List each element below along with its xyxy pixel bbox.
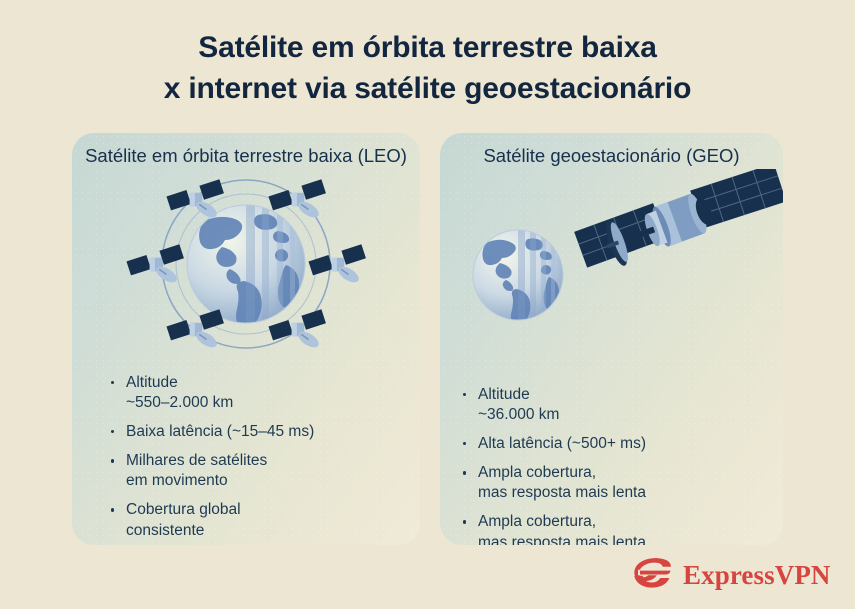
leo-bullet-list: Altitude ~550–2.000 km Baixa latência (~… — [110, 373, 370, 541]
card-geo-heading-line-1: Satélite geoestacionário — [483, 145, 680, 166]
satellite-glyph — [268, 309, 325, 350]
list-item: Alta latência (~500+ ms) — [462, 434, 732, 454]
expressvpn-wordmark: ExpressVPN — [683, 562, 831, 589]
card-geo-heading: Satélite geoestacionário (GEO) — [440, 133, 783, 169]
comparison-cards: Satélite em órbita terrestre baixa (LEO) — [72, 133, 783, 545]
bullet-line-1: Altitude — [126, 373, 370, 393]
bullet-line-2: mas resposta mais lenta — [478, 533, 732, 545]
geo-bullet-list: Altitude ~36.000 km Alta latência (~500+… — [462, 385, 732, 545]
bullet-line-2: em movimento — [126, 471, 370, 491]
list-item: Altitude ~550–2.000 km — [110, 373, 370, 413]
card-leo-heading-line-2: baixa (LEO) — [308, 145, 407, 166]
card-geo: Satélite geoestacionário (GEO) — [440, 133, 783, 545]
list-item: Milhares de satélites em movimento — [110, 451, 370, 491]
bullet-line-1: Altitude — [478, 385, 732, 405]
page-title-line-1: Satélite em órbita terrestre baixa — [0, 27, 855, 68]
card-leo-heading: Satélite em órbita terrestre baixa (LEO) — [72, 133, 420, 169]
card-leo: Satélite em órbita terrestre baixa (LEO) — [72, 133, 420, 545]
page-title-line-2: x internet via satélite geoestacionário — [0, 68, 855, 109]
bullet-line-2: consistente — [126, 521, 370, 541]
list-item: Cobertura global consistente — [110, 500, 370, 540]
bullet-line-2: ~36.000 km — [478, 405, 732, 425]
list-item: Baixa latência (~15–45 ms) — [110, 422, 370, 442]
card-geo-heading-line-2: (GEO) — [686, 145, 739, 166]
satellite-glyph — [166, 309, 223, 350]
geo-satellite-illustration — [440, 169, 783, 359]
bullet-line-1: Ampla cobertura, — [478, 512, 732, 532]
list-item: Ampla cobertura, mas resposta mais lenta — [462, 463, 732, 503]
page-title: Satélite em órbita terrestre baixa x int… — [0, 27, 855, 110]
satellite-glyph — [166, 179, 223, 220]
expressvpn-e-mark — [632, 556, 674, 595]
bullet-line-2: ~550–2.000 km — [126, 393, 370, 413]
bullet-line-2: mas resposta mais lenta — [478, 483, 732, 503]
card-leo-heading-line-1: Satélite em órbita terrestre — [85, 145, 303, 166]
bullet-line-1: Ampla cobertura, — [478, 463, 732, 483]
bullet-line-1: Baixa latência (~15–45 ms) — [126, 422, 370, 442]
satellite-glyph — [308, 244, 365, 285]
bullet-line-1: Milhares de satélites — [126, 451, 370, 471]
bullet-line-1: Alta latência (~500+ ms) — [478, 434, 732, 454]
list-item: Altitude ~36.000 km — [462, 385, 732, 425]
list-item: Ampla cobertura, mas resposta mais lenta — [462, 512, 732, 545]
leo-orbit-illustration — [72, 169, 420, 359]
expressvpn-logo: ExpressVPN — [632, 556, 831, 595]
bullet-line-1: Cobertura global — [126, 500, 370, 520]
satellite-glyph — [126, 244, 183, 285]
